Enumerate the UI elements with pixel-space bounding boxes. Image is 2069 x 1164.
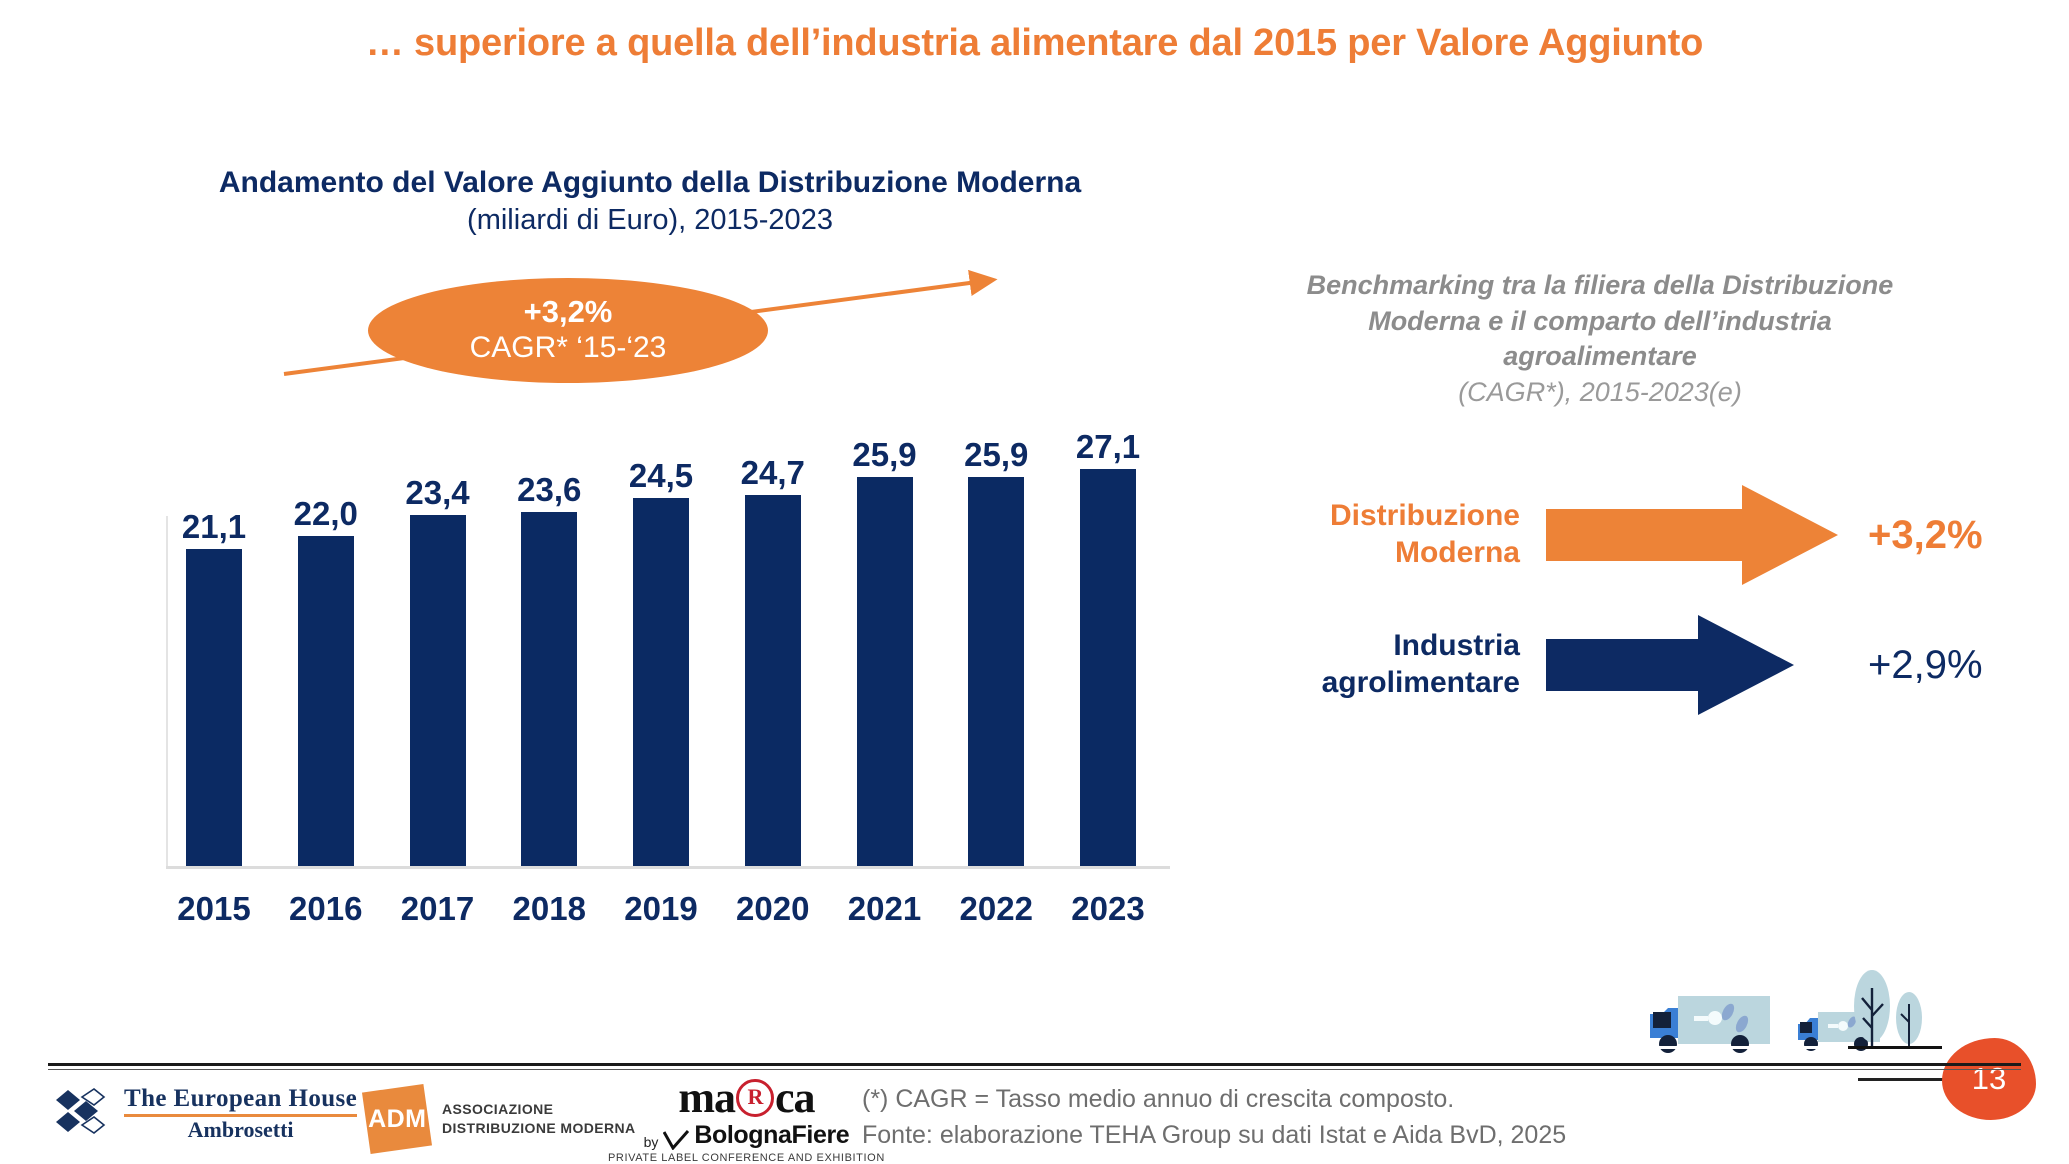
delivery-trucks-illustration — [1622, 940, 1942, 1060]
page-title: … superiore a quella dell’industria alim… — [0, 22, 2069, 65]
marca-by-line: by BolognaFiere — [608, 1121, 885, 1150]
comparison-label-line-1: Industria — [1270, 628, 1520, 665]
bar-column: 23,6 — [501, 430, 597, 868]
bar-column: 25,9 — [837, 430, 933, 868]
teh-line-1: The European House — [124, 1086, 357, 1111]
footnotes: (*) CAGR = Tasso medio annuo di crescita… — [862, 1082, 1566, 1153]
x-axis-label: 2017 — [390, 890, 486, 928]
x-axis-label: 2018 — [501, 890, 597, 928]
bar-series: 21,122,023,423,624,524,725,925,927,1 — [166, 430, 1156, 868]
bar-column: 23,4 — [390, 430, 486, 868]
adm-line-2: DISTRIBUZIONE MODERNA — [442, 1119, 636, 1138]
x-axis-labels: 201520162017201820192020202120222023 — [166, 878, 1156, 940]
bar-value-label: 23,6 — [517, 473, 581, 506]
comparison-value: +2,9% — [1846, 643, 2010, 688]
chart-subtitle: (miliardi di Euro), 2015-2023 — [150, 202, 1150, 239]
footnote-line-2: Fonte: elaborazione TEHA Group su dati I… — [862, 1118, 1566, 1154]
cagr-callout-badge: +3,2% CAGR* ‘15-‘23 — [368, 278, 768, 383]
comparison-label: Distribuzione Moderna — [1270, 498, 1546, 571]
bar — [298, 536, 354, 868]
x-axis-label: 2019 — [613, 890, 709, 928]
comparison-label-line-2: Moderna — [1270, 535, 1520, 572]
benchmark-note-line-1: Benchmarking tra la filiera della Distri… — [1195, 268, 2005, 304]
footer-divider — [48, 1063, 2021, 1066]
x-axis-label: 2015 — [166, 890, 262, 928]
bar-column: 24,7 — [725, 430, 821, 868]
teh-line-2: Ambrosetti — [124, 1119, 357, 1141]
marca-bolognafiere-label: BolognaFiere — [694, 1121, 849, 1150]
adm-line-1: ASSOCIAZIONE — [442, 1100, 636, 1119]
x-axis-label: 2016 — [278, 890, 374, 928]
right-arrow-icon — [1546, 483, 1846, 587]
adm-wordmark: ASSOCIAZIONE DISTRIBUZIONE MODERNA — [442, 1100, 636, 1138]
bar-value-label: 25,9 — [964, 438, 1028, 471]
bar-column: 21,1 — [166, 430, 262, 868]
chart-title: Andamento del Valore Aggiunto della Dist… — [150, 164, 1150, 202]
cagr-label: CAGR* ‘15-‘23 — [470, 330, 667, 366]
page-number-badge: 13 — [1942, 1038, 2036, 1120]
benchmark-note: Benchmarking tra la filiera della Distri… — [1195, 268, 2005, 411]
adm-mark-text: ADM — [368, 1105, 426, 1134]
bar-value-label: 23,4 — [405, 476, 469, 509]
bar-value-label: 24,7 — [741, 456, 805, 489]
comparison-arrow — [1546, 483, 1846, 587]
cagr-comparison: Distribuzione Moderna +3,2% Industria ag… — [1270, 470, 2010, 730]
bar — [745, 495, 801, 868]
right-arrow-icon — [1546, 613, 1846, 717]
bar-value-label: 21,1 — [182, 510, 246, 543]
bar — [521, 512, 577, 868]
ambrosetti-wordmark: The European House Ambrosetti — [124, 1086, 357, 1141]
marca-wordmark: ma R ca — [608, 1077, 885, 1119]
page-blob-connector — [1858, 1078, 1950, 1081]
trend-annotation: +3,2% CAGR* ‘15-‘23 — [280, 258, 1020, 423]
bar — [410, 515, 466, 868]
bar-column: 25,9 — [948, 430, 1044, 868]
comparison-label-line-1: Distribuzione — [1270, 498, 1520, 535]
bar-column: 27,1 — [1060, 430, 1156, 868]
comparison-row-industria-agroalimentare: Industria agrolimentare +2,9% — [1270, 600, 2010, 730]
checkmark-icon — [663, 1130, 689, 1150]
chart-header: Andamento del Valore Aggiunto della Dist… — [150, 164, 1150, 238]
bar-column: 22,0 — [278, 430, 374, 868]
footer-divider-thin — [48, 1069, 2021, 1070]
benchmark-note-line-2: Moderna e il comparto dell’industria — [1195, 304, 2005, 340]
comparison-label-line-2: agrolimentare — [1270, 665, 1520, 702]
marca-by-label: by — [644, 1134, 659, 1150]
slide: … superiore a quella dell’industria alim… — [0, 0, 2069, 1162]
x-axis-label: 2021 — [837, 890, 933, 928]
bar — [186, 549, 242, 868]
bar-value-label: 24,5 — [629, 459, 693, 492]
marca-part-2: ca — [775, 1077, 815, 1119]
bar-value-label: 27,1 — [1076, 430, 1140, 463]
bar-chart: 21,122,023,423,624,524,725,925,927,1 201… — [150, 430, 1170, 940]
ambrosetti-mark-icon — [52, 1087, 112, 1141]
marca-part-1: ma — [678, 1077, 735, 1119]
logo-adm: ADM ASSOCIAZIONE DISTRIBUZIONE MODERNA — [366, 1088, 636, 1150]
comparison-row-distribuzione-moderna: Distribuzione Moderna +3,2% — [1270, 470, 2010, 600]
bar-value-label: 22,0 — [294, 497, 358, 530]
comparison-arrow — [1546, 613, 1846, 717]
x-axis-line — [166, 866, 1170, 869]
benchmark-note-line-4: (CAGR*), 2015-2023(e) — [1195, 375, 2005, 411]
cagr-value: +3,2% — [524, 295, 613, 329]
comparison-value: +3,2% — [1846, 513, 2010, 558]
bar — [1080, 469, 1136, 868]
bar-column: 24,5 — [613, 430, 709, 868]
footnote-line-1: (*) CAGR = Tasso medio annuo di crescita… — [862, 1082, 1566, 1118]
logo-the-european-house-ambrosetti: The European House Ambrosetti — [52, 1086, 357, 1141]
x-axis-label: 2022 — [948, 890, 1044, 928]
logo-marca-bolognafiere: ma R ca by BolognaFiere PRIVATE LABEL CO… — [608, 1077, 885, 1164]
bar — [633, 498, 689, 868]
adm-mark-icon: ADM — [362, 1084, 432, 1154]
bar — [968, 477, 1024, 868]
registered-trademark-icon: R — [736, 1079, 774, 1117]
bar-value-label: 25,9 — [852, 438, 916, 471]
x-axis-label: 2023 — [1060, 890, 1156, 928]
benchmark-note-line-3: agroalimentare — [1195, 339, 2005, 375]
comparison-label: Industria agrolimentare — [1270, 628, 1546, 701]
x-axis-label: 2020 — [725, 890, 821, 928]
bar — [857, 477, 913, 868]
